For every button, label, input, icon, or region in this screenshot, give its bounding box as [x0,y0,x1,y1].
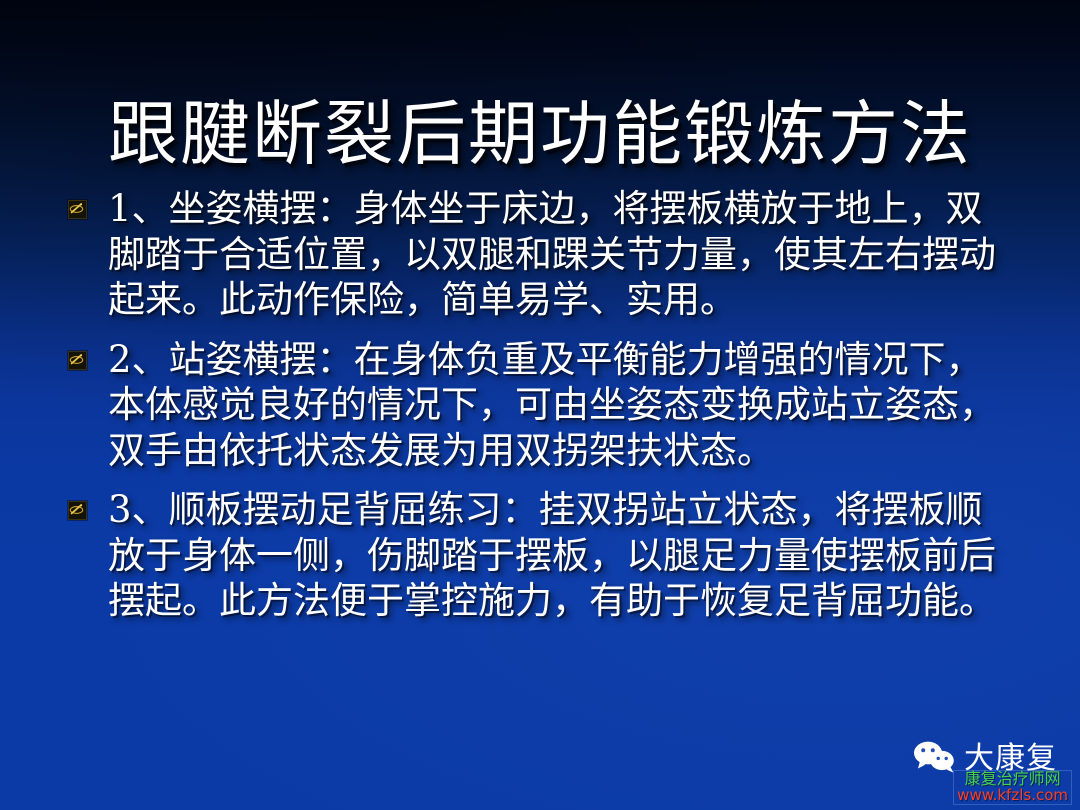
pen-square-bullet-icon [68,351,87,370]
presentation-slide: 跟腱断裂后期功能锻炼方法 1、坐姿横摆：身体坐于床边，将摆板横放于地上，双脚踏于… [0,0,1080,810]
watermark: 大康复 康复治疗师网 www.kfzls.com [904,734,1074,806]
bullet-item: 3、顺板摆动足背屈练习：挂双拐站立状态，将摆板顺放于身体一侧，伤脚踏于摆板，以腿… [62,487,1014,624]
bullet-item-text: 1、坐姿横摆：身体坐于床边，将摆板横放于地上，双脚踏于合适位置，以双腿和踝关节力… [108,187,996,321]
wechat-logo-icon [912,740,958,778]
bullet-item-text: 2、站姿横摆：在身体负重及平衡能力增强的情况下，本体感觉良好的情况下，可由坐姿态… [108,338,996,472]
bullet-item: 2、站姿横摆：在身体负重及平衡能力增强的情况下，本体感觉良好的情况下，可由坐姿态… [62,337,1014,474]
pen-square-bullet-icon [68,501,87,520]
bullet-item: 1、坐姿横摆：身体坐于床边，将摆板横放于地上，双脚踏于合适位置，以双腿和踝关节力… [62,186,1014,323]
bullet-item-text: 3、顺板摆动足背屈练习：挂双拐站立状态，将摆板顺放于身体一侧，伤脚踏于摆板，以腿… [108,488,996,622]
watermark-site-url: www.kfzls.com [957,788,1068,803]
pen-square-bullet-icon [68,200,87,219]
watermark-site-box: 康复治疗师网 www.kfzls.com [953,770,1072,805]
slide-body-content: 1、坐姿横摆：身体坐于床边，将摆板横放于地上，双脚踏于合适位置，以双腿和踝关节力… [62,186,1014,638]
slide-title: 跟腱断裂后期功能锻炼方法 [0,99,1080,169]
